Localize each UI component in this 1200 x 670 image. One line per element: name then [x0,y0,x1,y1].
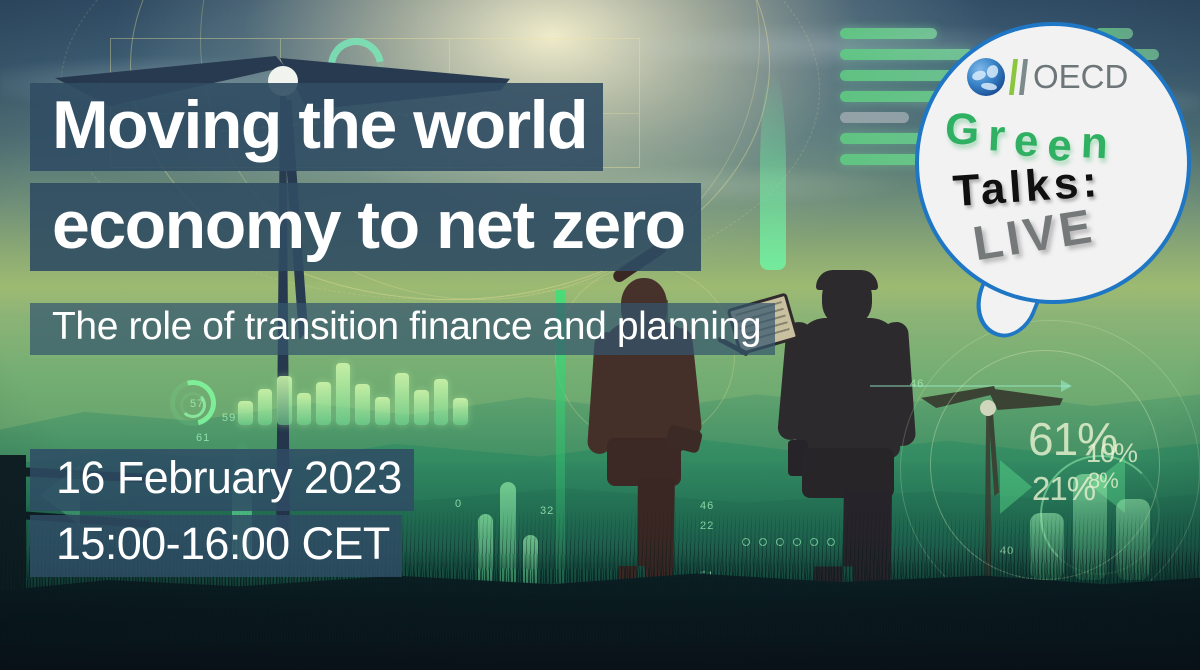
event-poster: 57 59 61 0 32 46 22 51 [0,0,1200,670]
oecd-logo-lockup: OECD [967,58,1128,96]
page-subtitle: The role of transition finance and plann… [30,303,775,355]
page-title-line-2: economy to net zero [30,183,701,271]
event-date: 16 February 2023 [30,449,414,511]
double-chevron-icon [1009,59,1028,95]
page-title-line-1: Moving the world [30,83,603,171]
oecd-wordmark: OECD [1033,58,1128,96]
event-time: 15:00-16:00 CET [30,515,402,577]
logo-word-green: Green [944,104,1118,161]
green-talks-live-logo: OECD Green Talks: LIVE [915,22,1191,304]
globe-icon [967,58,1005,96]
